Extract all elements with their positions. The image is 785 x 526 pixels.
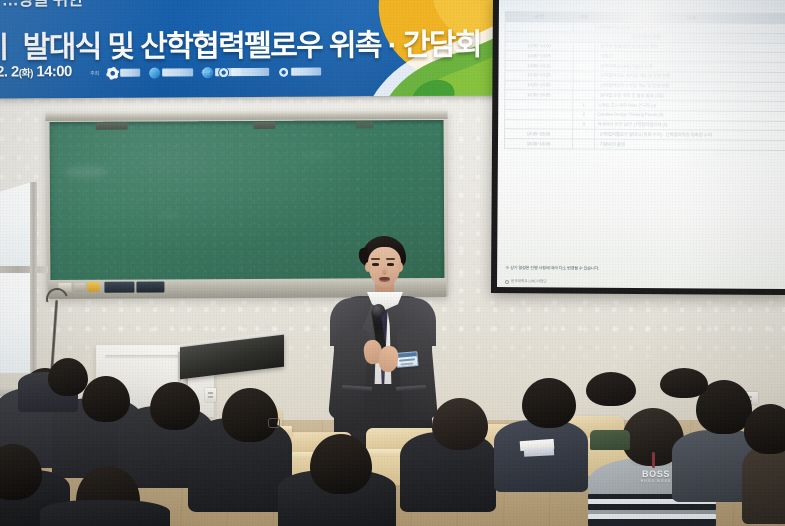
cell-kind: [573, 81, 596, 91]
eraser[interactable]: [74, 283, 85, 292]
banner-subtitle: …양글 위한: [2, 0, 83, 11]
sweater-stripe-dark: [588, 519, 716, 526]
badge-header-bar: [396, 352, 416, 358]
slide-footer: 한국대학교 LINC사업단: [505, 279, 547, 284]
slide-table-body: 산학협력체스티벌 개회식오전 / 전시 관람13:30~14:00· 참가자 등…: [504, 22, 785, 151]
wave-logo: [147, 65, 195, 79]
cell-kind: 3: [572, 120, 595, 130]
wall-outlet[interactable]: [205, 388, 216, 402]
chalk-smudge: [300, 151, 334, 160]
cell-time: 15:00~15:05: [504, 139, 572, 149]
cell-time: 13:30~14:00: [505, 41, 573, 51]
table-row: 15:00~15:05· 기념사진 촬영: [504, 139, 785, 151]
cell-time: [505, 22, 573, 32]
window-mullion: [0, 266, 48, 273]
logo-wordmark: [231, 68, 269, 76]
attendee-head: [48, 358, 88, 396]
attendee-head: [660, 368, 708, 398]
attendee-head: [222, 388, 278, 442]
cell-kind: [573, 71, 596, 81]
chalkboard-clip: [356, 121, 374, 128]
event-banner: …양글 위한 ㅣ 발대식 및 산학협력펠로우 위촉 · 간담회 2. 2(화) …: [0, 0, 502, 99]
badge-name-line: [399, 358, 415, 361]
col-time: 시 간: [505, 12, 573, 23]
cell-time: 14:05~14:15: [505, 61, 573, 71]
cell-kind: [573, 42, 596, 52]
cell-kind: 1: [572, 100, 595, 110]
cell-time: [505, 109, 573, 119]
chalk-smudge: [158, 211, 180, 218]
cell-kind: [572, 129, 595, 139]
cell-kind: [572, 90, 595, 100]
cell-time: 14:00~14:05: [505, 51, 573, 61]
attendee-head: [310, 434, 372, 494]
ring-icon: [278, 66, 289, 77]
sponsor-logo-row: 주관: [201, 65, 323, 80]
chalk-box[interactable]: [104, 282, 134, 293]
logo-wordmark: [120, 69, 140, 77]
slide-note: ※ 상기 일정은 진행 사정에 따라 다소 변경될 수 있습니다.: [505, 265, 599, 272]
cell-content: · 기념사진 촬영: [595, 139, 785, 150]
lanyard-strap: [652, 452, 655, 468]
ring-logo-1: [216, 65, 271, 79]
projection-screen: 시 간 구분 내 용 산학협력체스티벌 개회식오전 / 전시 관람13:30~1…: [491, 0, 785, 295]
eyeglasses-icon: [268, 418, 280, 428]
attendee-head: [432, 398, 488, 450]
projected-slide: 시 간 구분 내 용 산학협력체스티벌 개회식오전 / 전시 관람13:30~1…: [503, 11, 785, 253]
projection-screen-surface: 시 간 구분 내 용 산학협력체스티벌 개회식오전 / 전시 관람13:30~1…: [497, 0, 785, 289]
speaker-nose: [382, 267, 387, 275]
badge-sub-line: [400, 362, 413, 365]
ring-logo-2: [276, 65, 323, 79]
cell-kind: [573, 22, 596, 32]
speaker-ear-right: [397, 262, 403, 272]
wave-icon: [149, 67, 160, 78]
cell-time: 14:15~14:25: [505, 70, 573, 80]
cell-time: 14:55~15:00: [505, 129, 573, 139]
window-pane-lower: [0, 273, 32, 373]
cell-time: 14:25~14:35: [505, 80, 573, 90]
logo-wordmark: [291, 68, 321, 76]
bag-on-desk: [590, 430, 630, 450]
speaker-eyebrow-left: [371, 258, 380, 260]
attendee-head: [82, 376, 130, 422]
speaker-eyebrow-right: [386, 258, 395, 260]
attendee-body: [742, 444, 785, 524]
folder-on-desk: [524, 447, 554, 457]
host-label: 주최: [90, 69, 99, 76]
speaker-ear-left: [365, 262, 371, 272]
speaker-mouth: [379, 277, 390, 282]
banner-date-day: (화): [19, 68, 33, 79]
slide-footer-text: 한국대학교 LINC사업단: [511, 279, 547, 284]
sweater-stripe-dark: [588, 504, 716, 510]
cell-kind: [573, 61, 596, 71]
speaker-eye-right: [387, 263, 394, 266]
cell-time: [505, 100, 573, 110]
attendee-head: [522, 378, 576, 428]
logo-wordmark: [162, 68, 193, 76]
cell-kind: 2: [572, 110, 595, 120]
attendee-body: [494, 420, 588, 492]
ring-icon: [218, 67, 229, 78]
cell-kind: [573, 51, 596, 61]
attendee-head: [150, 382, 200, 430]
chalkboard-clip: [96, 123, 128, 130]
speaker-eye-left: [372, 263, 379, 266]
slide-schedule-table: 시 간 구분 내 용 산학협력체스티벌 개회식오전 / 전시 관람13:30~1…: [504, 11, 785, 151]
logo-dot-icon: [505, 280, 509, 284]
cell-time: 14:35~14:55: [505, 90, 573, 100]
cell-time: [505, 119, 573, 129]
chalk-holder[interactable]: [87, 282, 99, 292]
banner-date-time: 14:00: [33, 63, 72, 80]
gear-icon: [107, 67, 118, 78]
chalk-box[interactable]: [136, 281, 164, 292]
speaker-name-badge: [395, 351, 418, 368]
chalkboard-clip: [254, 122, 276, 129]
window: [0, 182, 48, 396]
attendee-body-foreground: [40, 500, 170, 526]
banner-date-num: 2. 2: [0, 63, 19, 80]
col-kind: 구분: [573, 12, 596, 22]
chalk-smudge: [64, 166, 108, 178]
banner-date: 2. 2(화) 14:00: [0, 63, 72, 80]
banner-title: ㅣ 발대식 및 산학협력펠로우 위촉 · 간담회: [0, 20, 481, 67]
attendee-head: [586, 372, 636, 406]
window-frame-vertical: [30, 182, 37, 378]
gear-logo: [105, 66, 142, 80]
speaker-presenter: [330, 236, 436, 446]
lecture-hall-photo: …양글 위한 ㅣ 발대식 및 산학협력펠로우 위촉 · 간담회 2. 2(화) …: [0, 0, 785, 526]
window-pane-upper: [0, 182, 32, 268]
sponsor-label: 주관: [201, 69, 210, 76]
cell-kind: [572, 139, 595, 149]
